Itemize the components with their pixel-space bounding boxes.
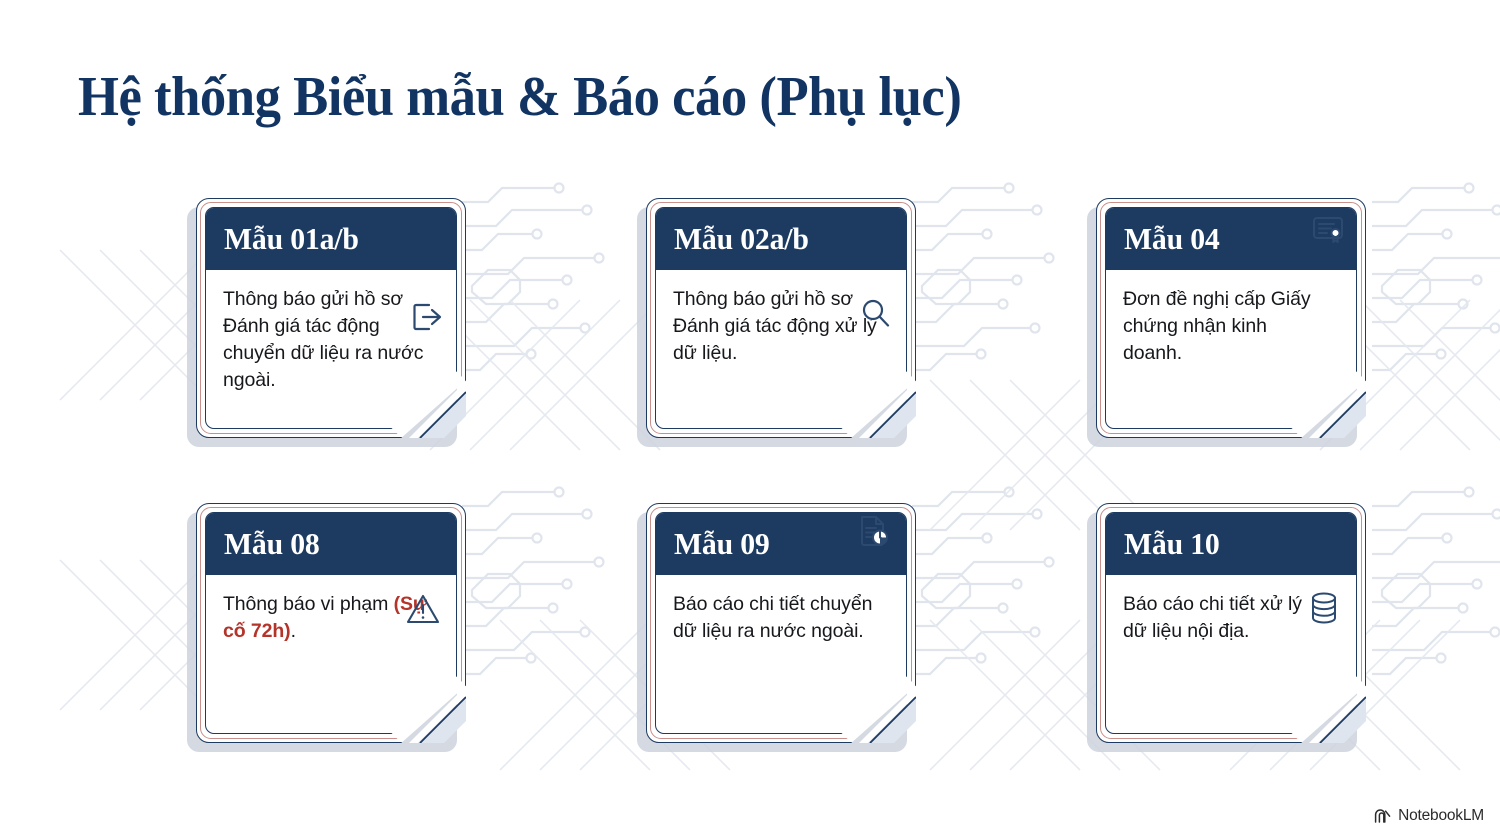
card-body-text-main: Báo cáo chi tiết xử lý dữ liệu nội địa. [1123,593,1302,642]
database-icon [1308,591,1340,625]
card-header-label: Mẫu 09 [674,526,770,562]
report-chart-icon [856,513,890,549]
notebooklm-watermark-label: NotebookLM [1398,807,1484,825]
card-header-label: Mẫu 10 [1124,526,1220,562]
card-header-label: Mẫu 01a/b [224,221,359,257]
card-header: Mẫu 08 [206,513,456,575]
template-card-02ab[interactable]: Mẫu 02a/b Thông báo gửi hồ sơ Đánh giá t… [646,198,916,438]
page-title: Hệ thống Biểu mẫu & Báo cáo (Phụ lục) [78,68,961,127]
card-header-label: Mẫu 08 [224,526,320,562]
card-body-text-main: Báo cáo chi tiết chuyển dữ liệu ra nước … [673,593,872,642]
warning-triangle-icon [406,593,440,625]
export-icon [410,300,444,334]
template-card-grid: Mẫu 01a/b Thông báo gửi hồ sơ Đánh giá t… [196,198,1396,743]
card-body: Đơn đề nghị cấp Giấy chứng nhận kinh doa… [1106,270,1356,428]
card-body-text: Thông báo gửi hồ sơ Đánh giá tác động ch… [223,286,428,394]
template-card-01ab[interactable]: Mẫu 01a/b Thông báo gửi hồ sơ Đánh giá t… [196,198,466,438]
card-header: Mẫu 10 [1106,513,1356,575]
card-body-text-main: Thông báo gửi hồ sơ Đánh giá tác động xử… [673,288,877,364]
card-body-text: Đơn đề nghị cấp Giấy chứng nhận kinh doa… [1123,286,1328,367]
card-body-text: Báo cáo chi tiết xử lý dữ liệu nội địa. [1123,591,1328,645]
card-body-text: Báo cáo chi tiết chuyển dữ liệu ra nước … [673,591,878,645]
template-card-10[interactable]: Mẫu 10 Báo cáo chi tiết xử lý dữ liệu nộ… [1096,503,1366,743]
notebooklm-watermark: NotebookLM [1374,807,1484,825]
card-header: Mẫu 02a/b [656,208,906,270]
card-body: Báo cáo chi tiết chuyển dữ liệu ra nước … [656,575,906,733]
card-body-text: Thông báo vi phạm (Sự cố 72h). [223,591,428,645]
card-header-label: Mẫu 04 [1124,221,1220,257]
card-body: Thông báo gửi hồ sơ Đánh giá tác động xử… [656,270,906,428]
card-body-text-main: Thông báo gửi hồ sơ Đánh giá tác động ch… [223,288,423,391]
template-card-08[interactable]: Mẫu 08 Thông báo vi phạm (Sự cố 72h). [196,503,466,743]
search-icon [858,296,892,330]
card-header-label: Mẫu 02a/b [674,221,809,257]
notebooklm-logo-icon [1374,809,1391,824]
card-body-text: Thông báo gửi hồ sơ Đánh giá tác động xử… [673,286,878,367]
card-body: Thông báo gửi hồ sơ Đánh giá tác động ch… [206,270,456,428]
card-body-text-tail: . [291,620,296,642]
certificate-icon [1310,210,1346,246]
card-body-text-main: Thông báo vi phạm [223,593,394,615]
template-card-09[interactable]: Mẫu 09 Báo cáo chi tiết chuyển dữ liệu r… [646,503,916,743]
card-header: Mẫu 01a/b [206,208,456,270]
card-body-text-main: Đơn đề nghị cấp Giấy chứng nhận kinh doa… [1123,288,1310,364]
template-card-04[interactable]: Mẫu 04 Đơn đề nghị cấp Giấy chứng nhận k… [1096,198,1366,438]
